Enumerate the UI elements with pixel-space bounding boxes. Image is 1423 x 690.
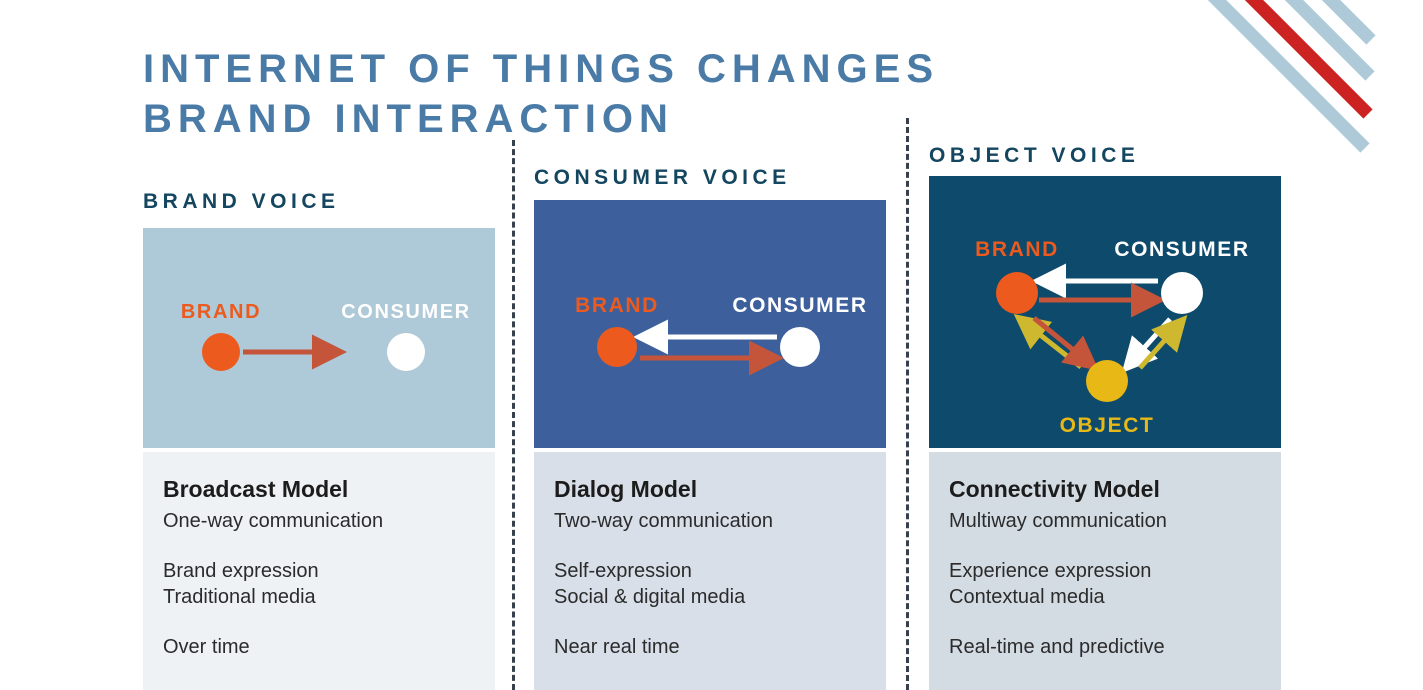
textbox-consumer-voice: Dialog Model Two-way communication Self-… <box>534 452 886 690</box>
node-consumer <box>1161 272 1203 314</box>
diagram-panel-consumer-voice: BRAND CONSUMER <box>534 200 886 448</box>
model-name-connectivity: Connectivity Model <box>949 474 1261 504</box>
diagram-panel-brand-voice: BRAND CONSUMER <box>143 228 495 448</box>
communication-dialog: Two-way communication <box>554 508 866 534</box>
expression-broadcast: Brand expression <box>163 558 475 584</box>
timing-broadcast: Over time <box>163 634 475 660</box>
node-label-consumer: CONSUMER <box>1114 238 1249 261</box>
node-brand <box>202 333 240 371</box>
node-label-consumer: CONSUMER <box>732 294 867 317</box>
communication-broadcast: One-way communication <box>163 508 475 534</box>
model-name-broadcast: Broadcast Model <box>163 474 475 504</box>
textbox-brand-voice: Broadcast Model One-way communication Br… <box>143 452 495 690</box>
divider-1 <box>512 140 515 690</box>
divider-2 <box>906 118 909 690</box>
timing-dialog: Near real time <box>554 634 866 660</box>
node-label-consumer: CONSUMER <box>341 301 470 323</box>
model-name-dialog: Dialog Model <box>554 474 866 504</box>
media-connectivity: Contextual media <box>949 584 1261 610</box>
node-label-object: OBJECT <box>1060 414 1155 437</box>
timing-connectivity: Real-time and predictive <box>949 634 1261 660</box>
textbox-object-voice: Connectivity Model Multiway communicatio… <box>929 452 1281 690</box>
node-brand <box>597 327 637 367</box>
column-header-consumer-voice: Consumer Voice <box>534 166 791 190</box>
node-consumer <box>387 333 425 371</box>
column-consumer-voice: Consumer Voice BRAND CONSUMER <box>534 0 886 690</box>
communication-connectivity: Multiway communication <box>949 508 1261 534</box>
node-object <box>1086 360 1128 402</box>
column-header-object-voice: Object Voice <box>929 144 1139 168</box>
node-brand <box>996 272 1038 314</box>
diagram-panel-object-voice: BRAND CONSUMER OBJECT <box>929 176 1281 448</box>
column-brand-voice: Brand Voice BRAND CONSUMER Broadcast Mod <box>143 0 495 690</box>
media-broadcast: Traditional media <box>163 584 475 610</box>
arrow-object-to-brand <box>1020 319 1081 367</box>
node-label-brand: BRAND <box>181 301 261 323</box>
expression-connectivity: Experience expression <box>949 558 1261 584</box>
node-consumer <box>780 327 820 367</box>
media-dialog: Social & digital media <box>554 584 866 610</box>
column-header-brand-voice: Brand Voice <box>143 190 340 214</box>
node-label-brand: BRAND <box>575 294 659 317</box>
node-label-brand: BRAND <box>975 238 1059 261</box>
column-object-voice: Object Voice <box>929 0 1281 690</box>
expression-dialog: Self-expression <box>554 558 866 584</box>
arrow-brand-to-object <box>1034 318 1093 366</box>
infographic-stage: Internet of Things Changes Brand Interac… <box>0 0 1423 690</box>
